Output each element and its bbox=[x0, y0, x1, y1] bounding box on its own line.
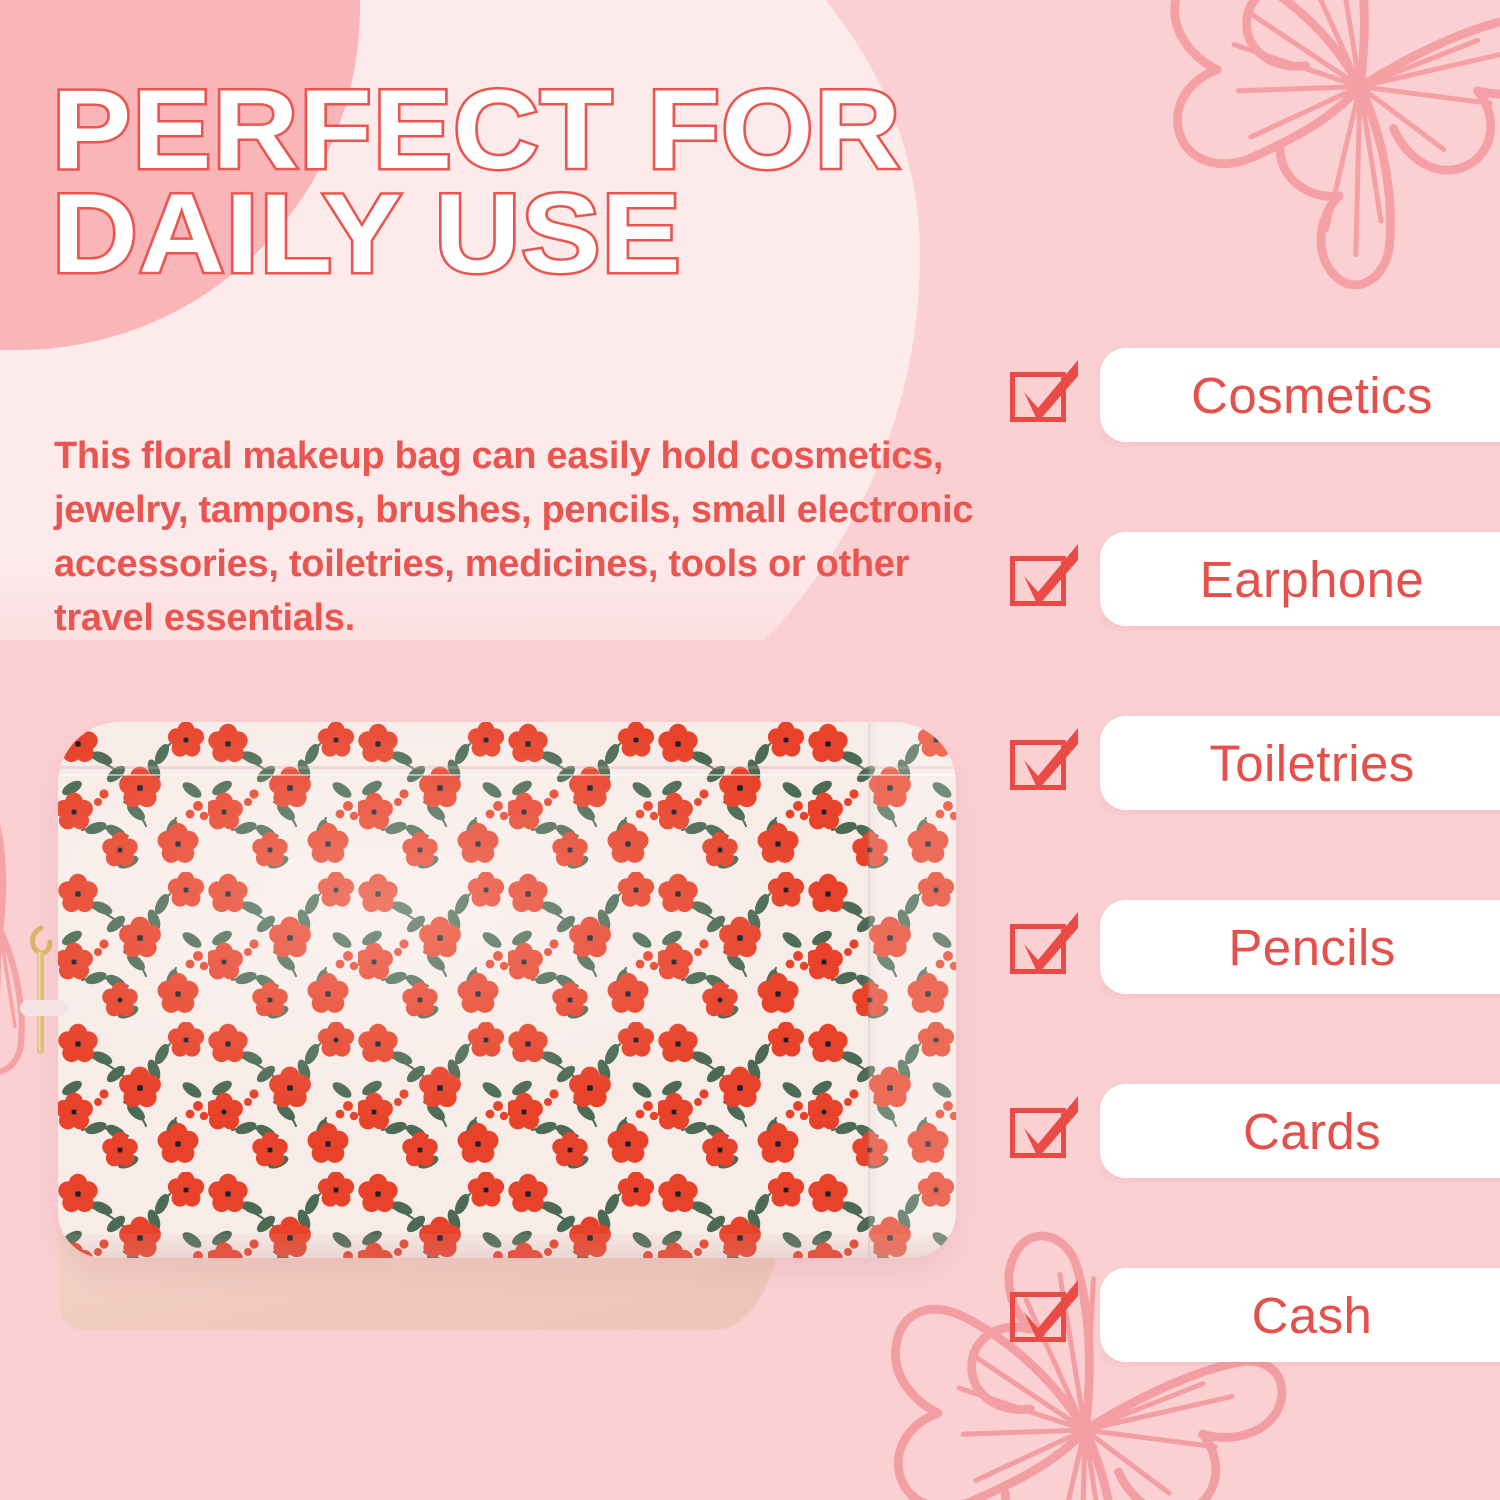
checkbox-checked-icon[interactable] bbox=[1010, 550, 1072, 608]
checklist-row[interactable]: Pencils bbox=[1010, 900, 1500, 994]
checklist-row[interactable]: Toiletries bbox=[1010, 716, 1500, 810]
feature-pill[interactable]: Earphone bbox=[1100, 532, 1500, 626]
feature-label: Cash bbox=[1252, 1286, 1419, 1345]
checklist-row[interactable]: Cards bbox=[1010, 1084, 1500, 1178]
feature-label: Earphone bbox=[1200, 550, 1470, 609]
feature-pill[interactable]: Cash bbox=[1100, 1268, 1500, 1362]
feature-label: Toiletries bbox=[1209, 734, 1460, 793]
makeup-bag bbox=[58, 722, 956, 1258]
headline-line-1: PERFECT FOR bbox=[52, 78, 1112, 182]
zipper-pull-icon bbox=[28, 918, 54, 1068]
bag-side-panel bbox=[870, 722, 956, 1258]
feature-label: Pencils bbox=[1228, 918, 1441, 977]
bag-side-seam bbox=[868, 722, 870, 1258]
feature-checklist: Cosmetics Earphone Toiletries bbox=[1010, 348, 1500, 1362]
checkbox-checked-icon[interactable] bbox=[1010, 1286, 1072, 1344]
feature-pill[interactable]: Cosmetics bbox=[1100, 348, 1500, 442]
floral-fabric-pattern bbox=[58, 722, 956, 1258]
checkbox-checked-icon[interactable] bbox=[1010, 366, 1072, 424]
zipper-seam bbox=[58, 766, 956, 769]
product-marketing-image: PERFECT FOR DAILY USE This floral makeup… bbox=[0, 0, 1500, 1500]
bag-bottom-edge bbox=[58, 1234, 956, 1258]
zipper-highlight bbox=[58, 774, 956, 776]
product-photo bbox=[20, 700, 980, 1320]
headline-line-2: DAILY USE bbox=[52, 182, 1112, 286]
feature-pill[interactable]: Cards bbox=[1100, 1084, 1500, 1178]
checkbox-checked-icon[interactable] bbox=[1010, 734, 1072, 792]
checklist-row[interactable]: Earphone bbox=[1010, 532, 1500, 626]
feature-pill[interactable]: Pencils bbox=[1100, 900, 1500, 994]
description-paragraph: This floral makeup bag can easily hold c… bbox=[54, 430, 1004, 646]
page-title: PERFECT FOR DAILY USE bbox=[52, 78, 1112, 286]
checklist-row[interactable]: Cosmetics bbox=[1010, 348, 1500, 442]
checkbox-checked-icon[interactable] bbox=[1010, 1102, 1072, 1160]
checklist-row[interactable]: Cash bbox=[1010, 1268, 1500, 1362]
checkbox-checked-icon[interactable] bbox=[1010, 918, 1072, 976]
feature-pill[interactable]: Toiletries bbox=[1100, 716, 1500, 810]
feature-label: Cosmetics bbox=[1191, 366, 1479, 425]
bag-zipper-tab bbox=[20, 1000, 68, 1016]
feature-label: Cards bbox=[1243, 1102, 1427, 1161]
